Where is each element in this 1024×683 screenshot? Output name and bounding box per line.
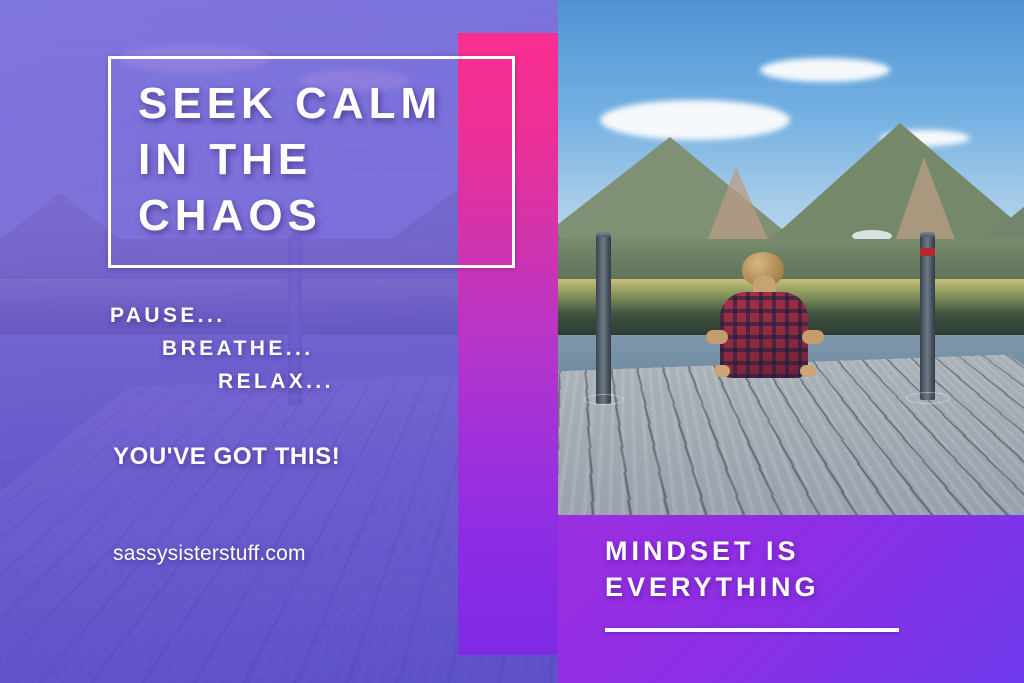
page-title: SEEK CALM IN THE CHAOS <box>138 76 442 244</box>
figure-plaid-shirt <box>720 292 808 378</box>
figure-right-leg <box>802 330 824 344</box>
figure-left-hand <box>714 365 730 377</box>
poster-canvas: SEEK CALM IN THE CHAOS PAUSE... BREATHE.… <box>0 0 1024 683</box>
water-ripple <box>906 392 950 404</box>
stanza-line-relax: RELAX... <box>110 365 334 398</box>
breathing-stanza: PAUSE... BREATHE... RELAX... <box>110 299 334 398</box>
right-caption-title: MINDSET IS EVERYTHING <box>605 533 820 605</box>
water-ripple <box>584 394 624 405</box>
stanza-line-pause: PAUSE... <box>110 299 334 332</box>
figure-right-hand <box>800 365 816 377</box>
caption-underline-rule <box>605 628 899 632</box>
dock-post-left <box>596 232 611 404</box>
dock-post-right <box>920 232 935 400</box>
stanza-line-breathe: BREATHE... <box>110 332 334 365</box>
cloud-icon <box>760 58 890 82</box>
figure-left-leg <box>706 330 728 344</box>
affirmation-text: YOU'VE GOT THIS! <box>113 443 340 471</box>
website-url[interactable]: sassysisterstuff.com <box>113 542 306 566</box>
